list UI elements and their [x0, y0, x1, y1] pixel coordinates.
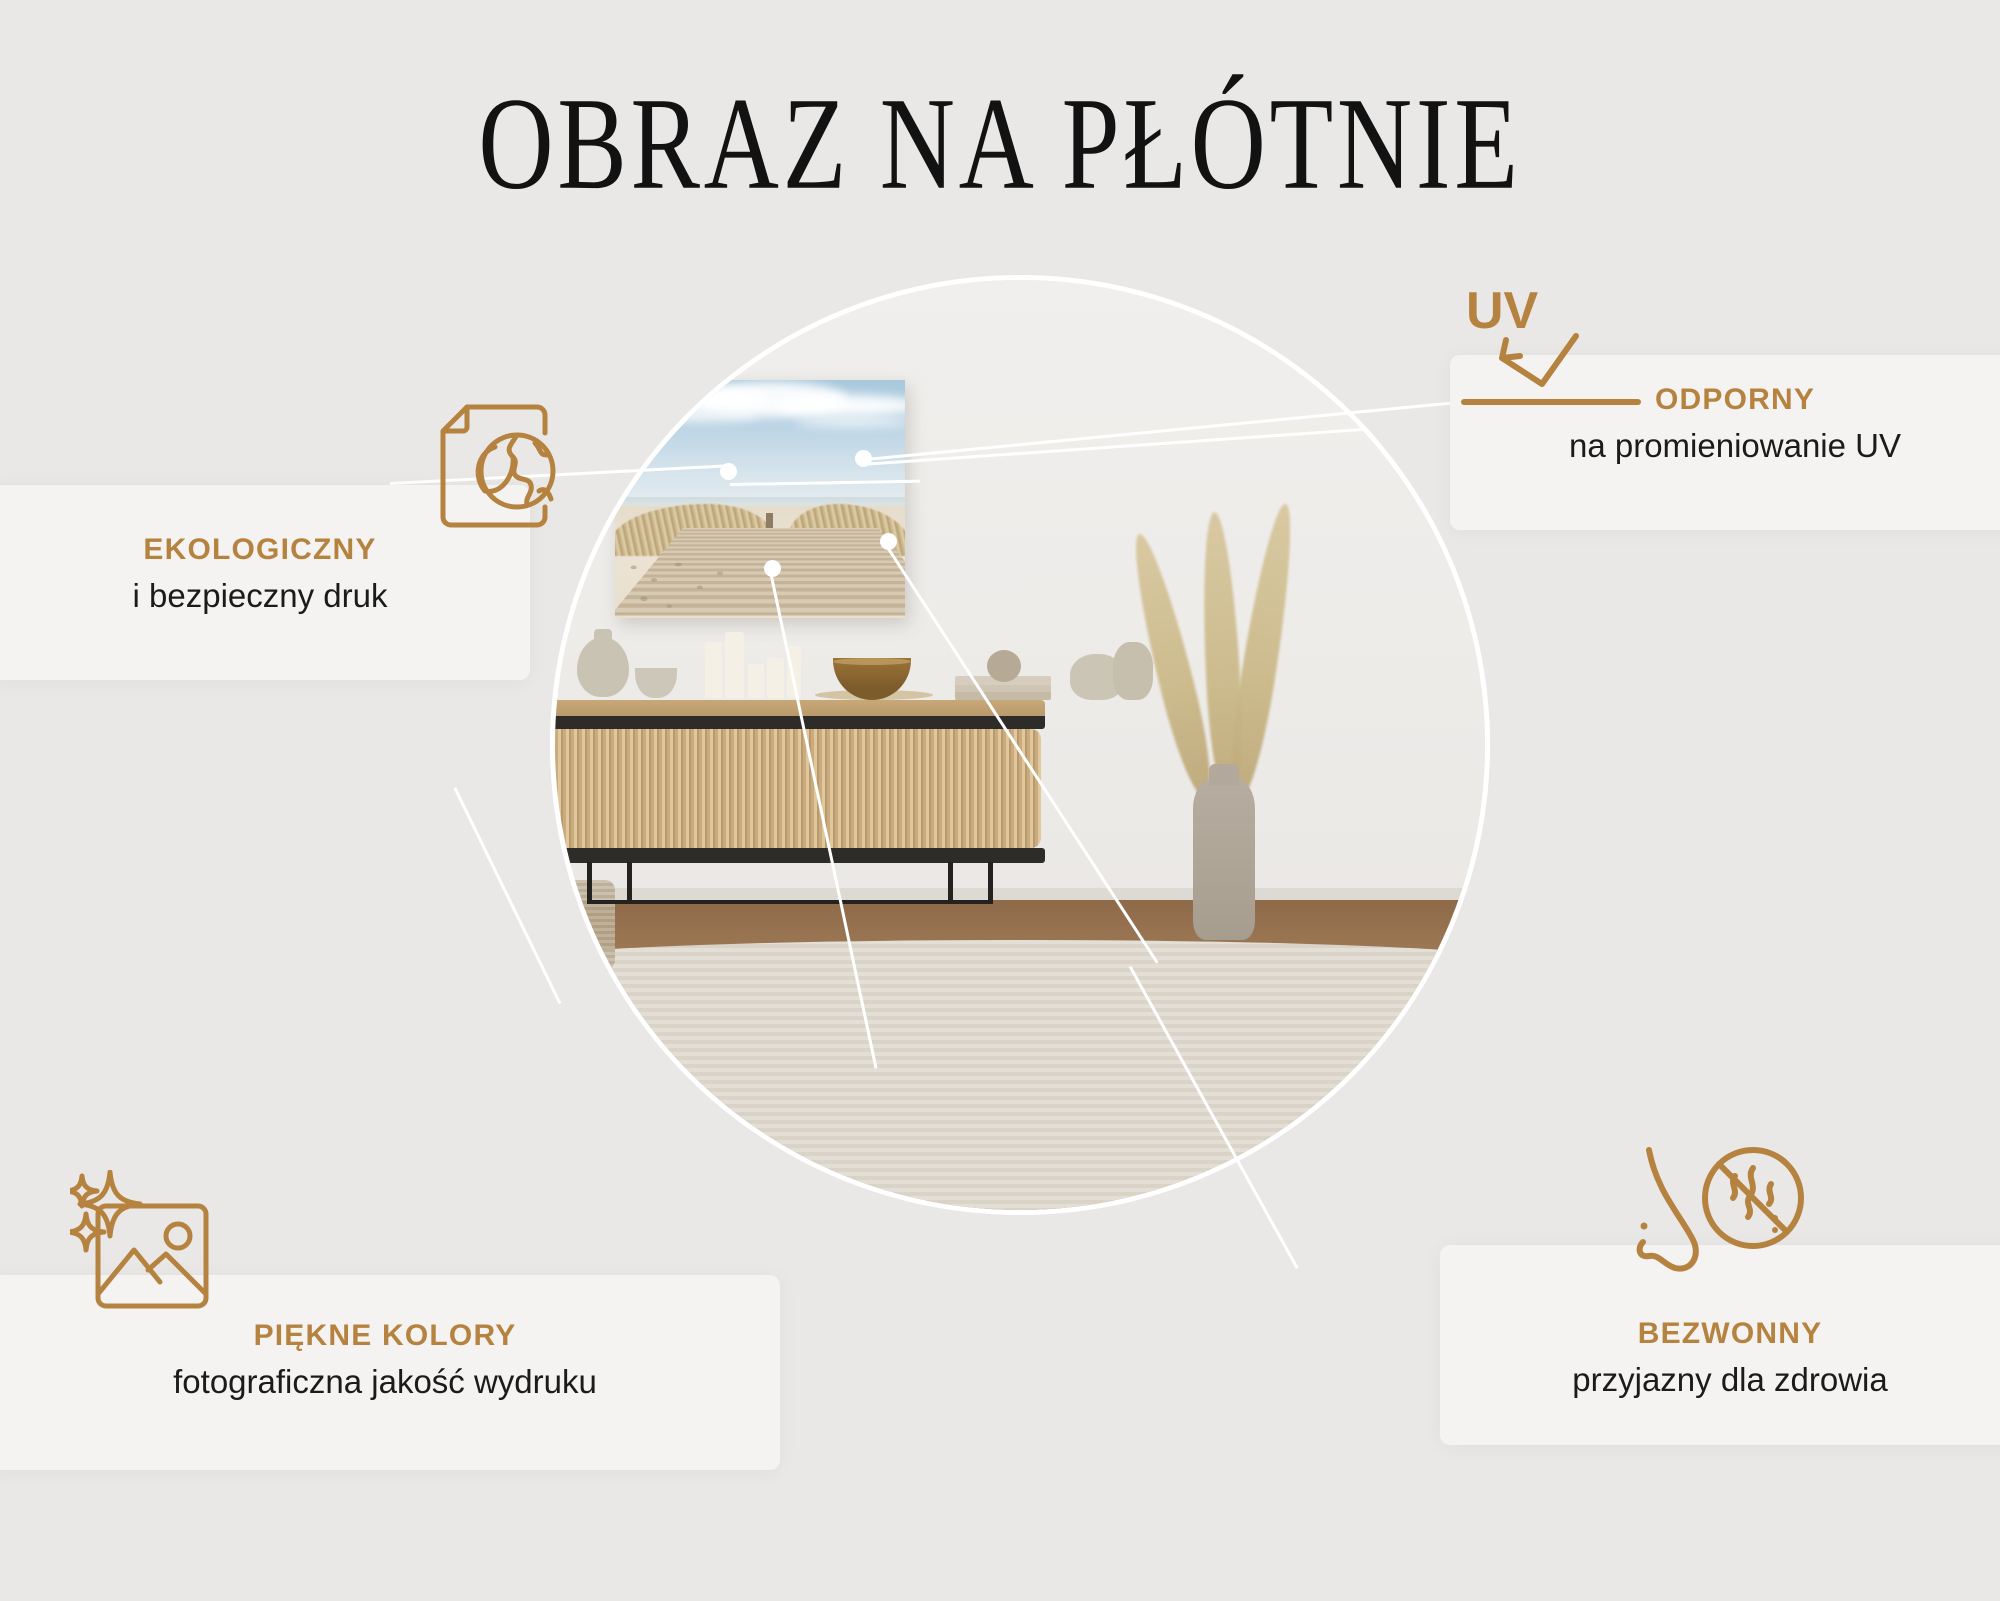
ceramic-vase-large — [577, 637, 629, 697]
svg-text:UV: UV — [1466, 282, 1539, 340]
product-scene-circle — [555, 280, 1485, 1210]
sparkle-photo-icon — [70, 1170, 240, 1320]
candle — [705, 642, 722, 698]
canvas-artwork — [615, 380, 905, 618]
feature-sub-uv: na promieniowanie UV — [1450, 427, 2000, 465]
feature-heading-colors: PIĘKNE KOLORY — [0, 1319, 780, 1353]
feature-sub-odor: przyjazny dla zdrowia — [1440, 1361, 2000, 1399]
stone-floor-vase — [1193, 780, 1255, 940]
candle — [725, 632, 744, 698]
no-smell-nose-icon — [1635, 1140, 1815, 1305]
area-rug — [555, 940, 1485, 1210]
feature-heading-odor: BEZWONNY — [1440, 1317, 2000, 1351]
artwork-footprints — [621, 556, 749, 613]
uv-reflection-icon: UV — [1458, 280, 1648, 410]
feature-sub-eco: i bezpieczny druk — [0, 577, 530, 615]
connector-ray-uv — [862, 420, 1481, 466]
woven-basket — [555, 880, 615, 970]
ceramic-bowl-small — [635, 668, 677, 698]
leader-line-colors — [453, 787, 561, 1004]
room-scene — [555, 280, 1485, 1210]
decor-sphere — [987, 650, 1021, 682]
connector-dot-colors — [764, 560, 781, 577]
feature-sub-colors: fotograficzna jakość wydruku — [0, 1363, 780, 1401]
document-globe-leaf-icon — [425, 395, 575, 545]
page-title: OBRAZ NA PŁÓTNIE — [70, 78, 1930, 210]
connector-dot-odor — [880, 533, 897, 550]
candle — [748, 664, 764, 698]
ceramic-vase-right-2 — [1113, 642, 1153, 700]
candle — [767, 658, 784, 698]
fluted-sideboard — [555, 700, 1045, 880]
